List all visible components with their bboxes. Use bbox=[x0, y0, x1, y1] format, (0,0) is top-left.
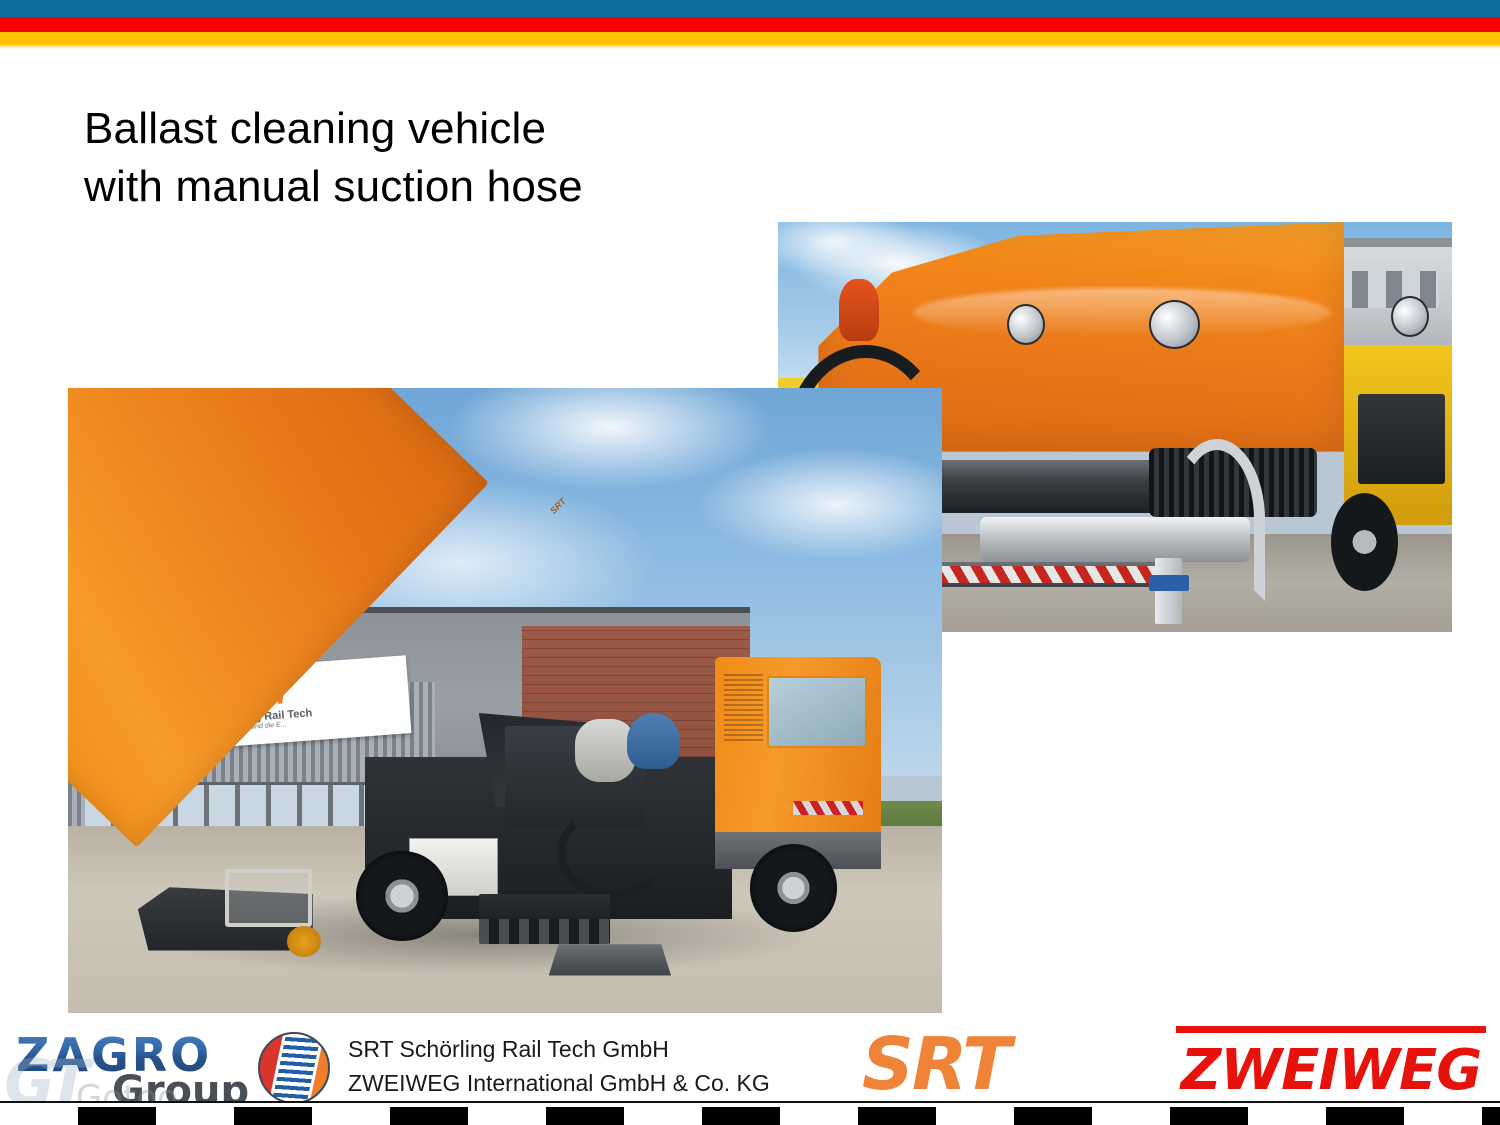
guide-roller bbox=[287, 926, 322, 957]
pipe-outlet bbox=[1155, 558, 1182, 624]
srt-wordmark-logo[interactable]: SRT bbox=[862, 1026, 1118, 1102]
title-line-2: with manual suction hose bbox=[84, 158, 844, 216]
rail-wheels bbox=[479, 919, 610, 944]
top-color-band bbox=[0, 0, 1500, 48]
title-line-1: Ballast cleaning vehicle bbox=[84, 100, 844, 158]
zweiweg-wordmark: ZWEIWEG bbox=[1181, 1043, 1481, 1099]
rotating-beacon bbox=[839, 279, 879, 341]
cab-warning-stripe bbox=[793, 801, 863, 815]
rail-track-glyph bbox=[269, 1032, 326, 1104]
suction-hose bbox=[557, 807, 669, 898]
zagro-group-logo[interactable]: ZAGRO Group bbox=[16, 1028, 246, 1106]
band-stripe-fade bbox=[0, 45, 1500, 49]
photo-ballast-cleaning-vehicle: SRT Schörling Rail Tech Wir sind die E..… bbox=[68, 388, 942, 1013]
bottom-dashed-bar bbox=[0, 1107, 1500, 1125]
hose-reel bbox=[225, 869, 312, 927]
blue-tank bbox=[627, 713, 679, 769]
work-lamp-3 bbox=[1391, 296, 1429, 337]
body-highlight bbox=[913, 288, 1331, 337]
slide-title: Ballast cleaning vehicle with manual suc… bbox=[84, 100, 844, 216]
cab-side-window bbox=[767, 676, 867, 749]
srt-rail-circle-icon[interactable] bbox=[258, 1032, 330, 1104]
band-stripe-red bbox=[0, 17, 1500, 32]
band-stripe-yellow bbox=[0, 32, 1500, 45]
rear-wheel bbox=[1331, 493, 1398, 591]
background-truck-engine bbox=[1358, 394, 1446, 484]
band-stripe-blue bbox=[0, 0, 1500, 17]
company-name-line-1: SRT Schörling Rail Tech GmbH bbox=[348, 1032, 868, 1066]
road-wheel-rear bbox=[356, 851, 448, 942]
pipe-clamp bbox=[1149, 575, 1189, 591]
company-names-block: SRT Schörling Rail Tech GmbH ZWEIWEG Int… bbox=[348, 1032, 868, 1100]
work-lamp-2 bbox=[1149, 300, 1200, 349]
road-wheel-front bbox=[750, 844, 837, 932]
company-name-line-2: ZWEIWEG International GmbH & Co. KG bbox=[348, 1066, 868, 1100]
suction-plate-tray bbox=[549, 944, 671, 975]
cab-air-grille bbox=[724, 672, 763, 741]
work-lamp-1 bbox=[1007, 304, 1045, 345]
